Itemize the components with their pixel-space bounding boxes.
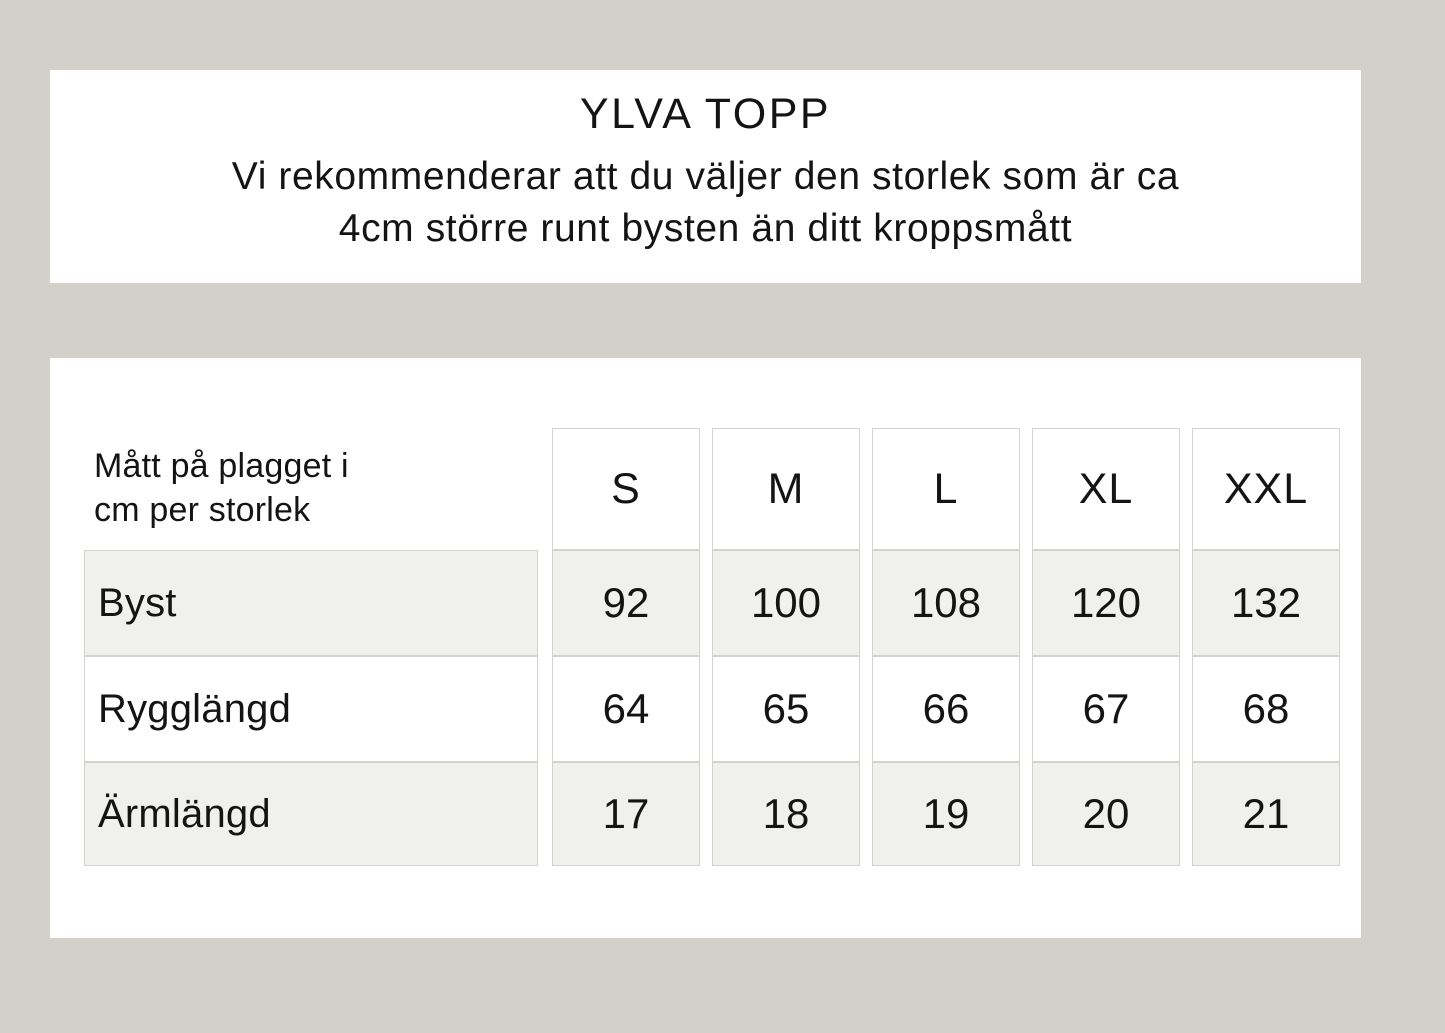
- recommendation-line-1: Vi rekommenderar att du väljer den storl…: [232, 151, 1179, 202]
- cell-armlangd-xxl: 21: [1192, 762, 1340, 866]
- cell-armlangd-xl: 20: [1032, 762, 1180, 866]
- cell-byst-l: 108: [872, 550, 1020, 656]
- size-columns: S 92 64 17 M 100 65 18 L 108 66 19: [552, 428, 1340, 866]
- size-column-m: M 100 65 18: [712, 428, 860, 866]
- size-header-l: L: [872, 428, 1020, 550]
- cell-armlangd-l: 19: [872, 762, 1020, 866]
- measurement-label-column: Mått på plagget i cm per storlek Byst Ry…: [84, 428, 538, 866]
- measurement-header-line-2: cm per storlek: [94, 489, 538, 533]
- size-column-xl: XL 120 67 20: [1032, 428, 1180, 866]
- size-chart-page: YLVA TOPP Vi rekommenderar att du väljer…: [0, 0, 1445, 1033]
- cell-armlangd-m: 18: [712, 762, 860, 866]
- row-label-armlangd: Ärmlängd: [84, 762, 538, 866]
- cell-rygglangd-xxl: 68: [1192, 656, 1340, 762]
- measurement-column-header: Mått på plagget i cm per storlek: [84, 428, 538, 550]
- cell-byst-m: 100: [712, 550, 860, 656]
- cell-rygglangd-s: 64: [552, 656, 700, 762]
- size-header-xxl: XXL: [1192, 428, 1340, 550]
- cell-rygglangd-m: 65: [712, 656, 860, 762]
- row-label-byst: Byst: [84, 550, 538, 656]
- size-header-xl: XL: [1032, 428, 1180, 550]
- cell-byst-s: 92: [552, 550, 700, 656]
- cell-byst-xl: 120: [1032, 550, 1180, 656]
- cell-byst-xxl: 132: [1192, 550, 1340, 656]
- size-header-s: S: [552, 428, 700, 550]
- size-column-xxl: XXL 132 68 21: [1192, 428, 1340, 866]
- recommendation-line-2: 4cm större runt bysten än ditt kroppsmåt…: [232, 203, 1179, 254]
- recommendation-text: Vi rekommenderar att du väljer den storl…: [232, 151, 1179, 254]
- cell-rygglangd-xl: 67: [1032, 656, 1180, 762]
- size-header-m: M: [712, 428, 860, 550]
- size-column-s: S 92 64 17: [552, 428, 700, 866]
- size-table-card: Mått på plagget i cm per storlek Byst Ry…: [50, 358, 1361, 938]
- cell-rygglangd-l: 66: [872, 656, 1020, 762]
- measurement-header-line-1: Mått på plagget i: [94, 445, 538, 489]
- header-card: YLVA TOPP Vi rekommenderar att du väljer…: [50, 70, 1361, 283]
- size-column-l: L 108 66 19: [872, 428, 1020, 866]
- page-title: YLVA TOPP: [580, 92, 831, 137]
- row-label-rygglangd: Rygglängd: [84, 656, 538, 762]
- size-table: Mått på plagget i cm per storlek Byst Ry…: [84, 428, 1340, 866]
- cell-armlangd-s: 17: [552, 762, 700, 866]
